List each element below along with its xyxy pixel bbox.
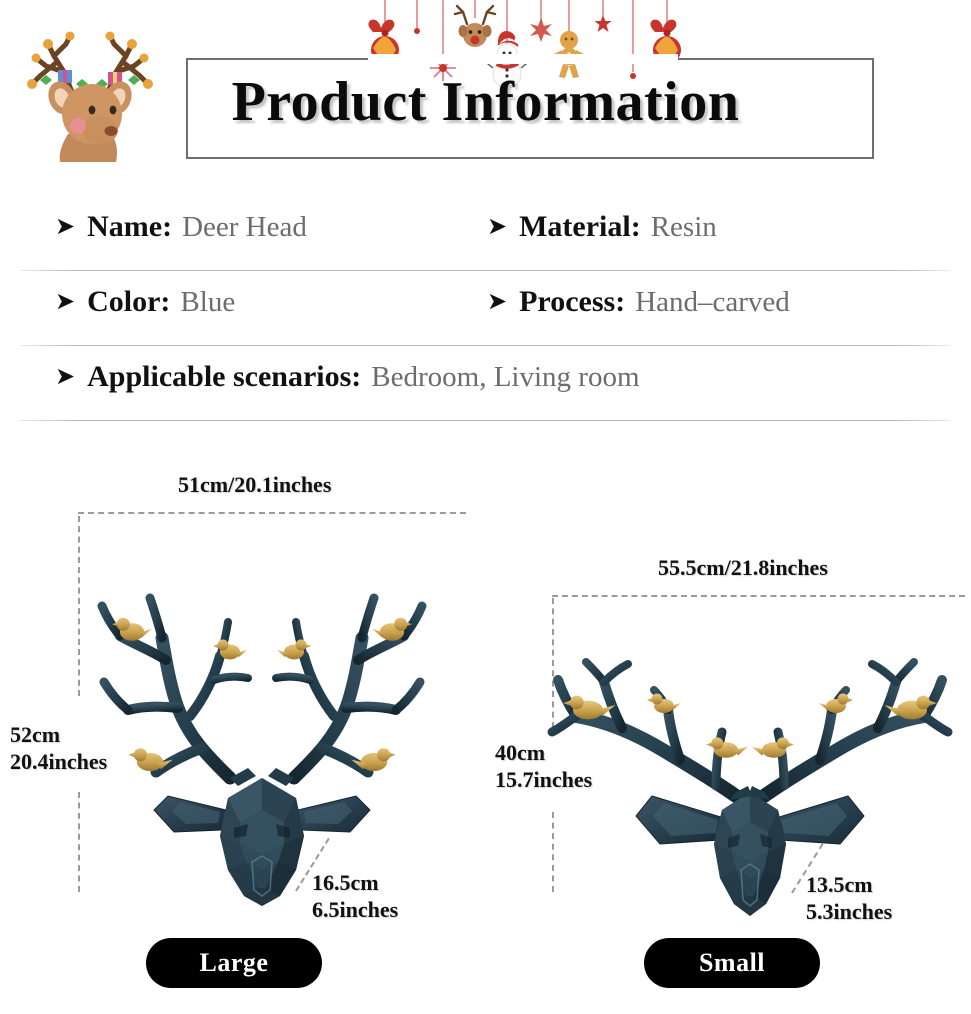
spec-value: Blue <box>180 286 235 319</box>
small-width-label: 55.5cm/21.8inches <box>658 555 828 581</box>
spec-label: Color: <box>87 285 170 319</box>
spec-value: Bedroom, Living room <box>371 361 639 394</box>
deer-head-sculpture-large <box>62 510 462 910</box>
spec-label: Material: <box>519 210 641 244</box>
large-width-label: 51cm/20.1inches <box>178 472 331 498</box>
spec-value: Hand–carved <box>635 286 790 319</box>
spec-value: Resin <box>651 211 717 244</box>
deer-head-faceted <box>714 792 786 916</box>
triangle-bullet-icon: ➤ <box>55 365 75 389</box>
deer-head-faceted <box>220 778 304 906</box>
spec-label: Process: <box>519 285 625 319</box>
product-size-comparison: 51cm/20.1inches 52cm 20.4inches 16.5cm 6… <box>0 440 971 1014</box>
deer-head-sculpture-small <box>540 600 960 930</box>
spec-divider <box>20 420 950 421</box>
spec-item-color: ➤ Color: Blue <box>55 285 235 319</box>
triangle-bullet-icon: ➤ <box>487 290 507 314</box>
spec-label: Name: <box>87 210 172 244</box>
size-badge-label: Small <box>699 948 765 978</box>
spec-value: Deer Head <box>182 211 307 244</box>
spec-item-material: ➤ Material: Resin <box>487 210 717 244</box>
page-header: Product Information <box>0 0 971 195</box>
triangle-bullet-icon: ➤ <box>487 215 507 239</box>
page-title: Product Information <box>0 70 971 134</box>
spec-item-applicable-scenarios: ➤ Applicable scenarios: Bedroom, Living … <box>55 360 640 394</box>
size-badge-small[interactable]: Small <box>644 938 820 988</box>
spec-row: ➤ Name: Deer Head ➤ Material: Resin <box>0 196 971 271</box>
spec-row: ➤ Applicable scenarios: Bedroom, Living … <box>0 346 971 421</box>
small-width-dashline <box>552 595 965 597</box>
triangle-bullet-icon: ➤ <box>55 290 75 314</box>
spec-row: ➤ Color: Blue ➤ Process: Hand–carved <box>0 271 971 346</box>
product-information-page: Product Information ➤ Name: Deer Head ➤ … <box>0 0 971 1014</box>
spec-item-name: ➤ Name: Deer Head <box>55 210 307 244</box>
size-badge-large[interactable]: Large <box>146 938 322 988</box>
triangle-bullet-icon: ➤ <box>55 215 75 239</box>
size-badge-label: Large <box>200 948 269 978</box>
spec-label: Applicable scenarios: <box>87 360 361 394</box>
spec-item-process: ➤ Process: Hand–carved <box>487 285 790 319</box>
title-frame-gap <box>368 54 678 64</box>
product-spec-list: ➤ Name: Deer Head ➤ Material: Resin ➤ Co… <box>0 196 971 421</box>
